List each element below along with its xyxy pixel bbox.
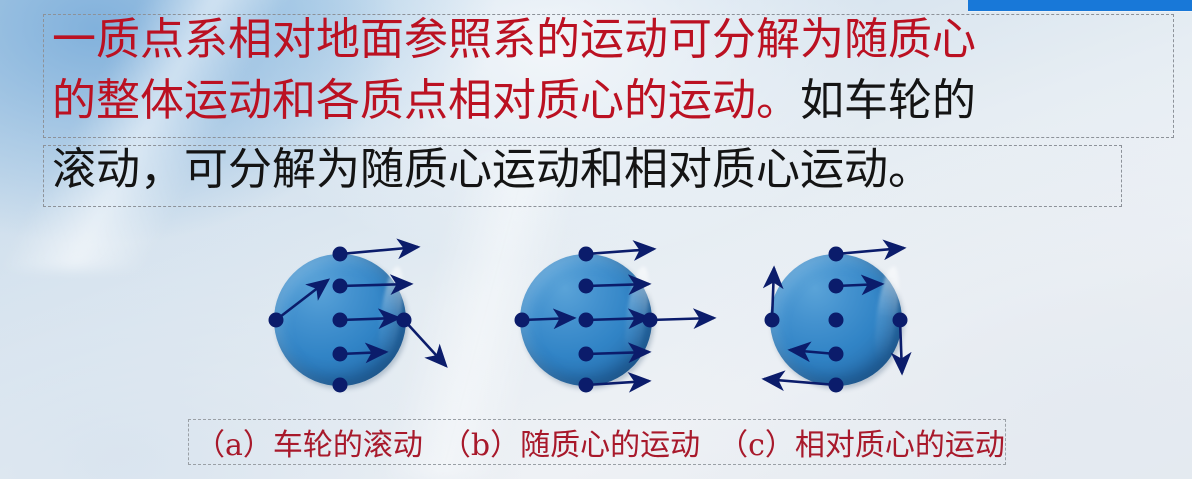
point-mass-dot [579, 247, 593, 261]
point-mass-dot [829, 247, 843, 261]
point-mass-dot [579, 313, 593, 327]
point-mass-dot [579, 279, 593, 293]
point-mass-dot [579, 347, 593, 361]
point-mass-dot [333, 347, 347, 361]
point-mass-dot [893, 313, 907, 327]
top-banner [968, 0, 1192, 11]
text-box-lower: 滚动，可分解为随质心运动和相对质心运动。 [43, 145, 1122, 207]
lower-line1-text: 滚动，可分解为随质心运动和相对质心运动。 [52, 144, 932, 195]
upper-line2-black-text: 如车轮的 [800, 75, 976, 126]
point-mass-dot [829, 313, 843, 327]
upper-line1-text: 一质点系相对地面参照系的运动可分解为随质心 [52, 14, 976, 65]
figure-c-vectors [752, 218, 1012, 398]
point-mass-dot [515, 313, 529, 327]
caption-item-a: （a）车轮的滚动 [195, 420, 423, 464]
figure-a-rolling-wheel [256, 218, 516, 398]
figure-a-vectors [256, 218, 516, 398]
point-mass-dot [333, 313, 347, 327]
point-mass-dot [333, 378, 347, 392]
slide-canvas: 一质点系相对地面参照系的运动可分解为随质心 的整体运动和各质点相对质心的运动。如… [0, 0, 1192, 479]
point-mass-dot [765, 313, 779, 327]
figure-caption-box: （a）车轮的滚动 （b）随质心的运动 （c）相对质心的运动 [188, 419, 1006, 465]
text-box-upper: 一质点系相对地面参照系的运动可分解为随质心 的整体运动和各质点相对质心的运动。如… [43, 14, 1174, 138]
point-mass-dot [333, 247, 347, 261]
point-mass-dot [333, 279, 347, 293]
caption-item-c: （c）相对质心的运动 [718, 420, 1005, 464]
point-mass-dot [643, 313, 657, 327]
figure-group [0, 218, 1192, 418]
point-mass-dot [829, 378, 843, 392]
point-mass-dot [397, 313, 411, 327]
figure-b-translation [502, 218, 762, 398]
point-mass-dot [579, 378, 593, 392]
point-mass-dot [829, 347, 843, 361]
upper-line2-red-text: 的整体运动和各质点相对质心的运动。 [52, 75, 800, 126]
caption-item-b: （b）随质心的运动 [441, 420, 700, 464]
figure-b-vectors [502, 218, 762, 398]
point-mass-dot [829, 279, 843, 293]
point-mass-dot [269, 313, 283, 327]
figure-c-rotation [752, 218, 1012, 398]
